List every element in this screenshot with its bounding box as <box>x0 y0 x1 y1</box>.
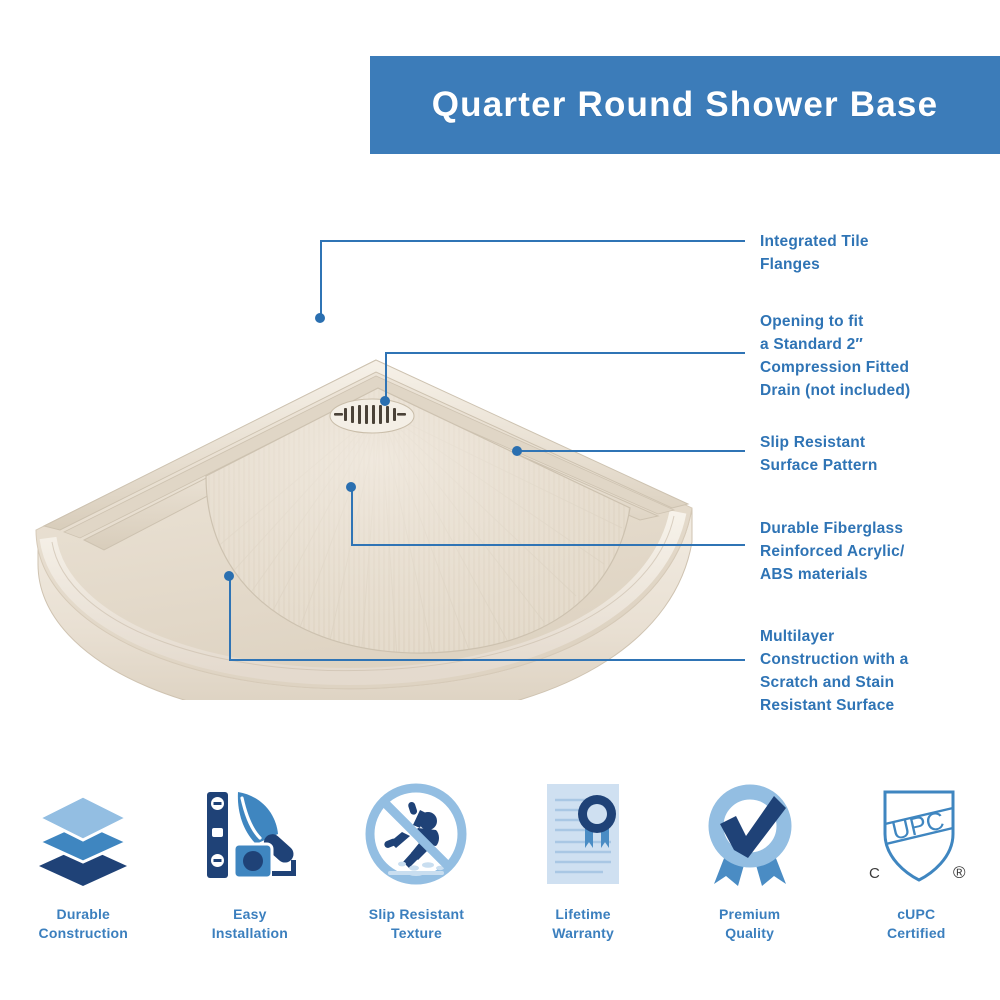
leader-multilayer-horizontal <box>229 659 745 661</box>
leader-dot-fiberglass <box>346 482 356 492</box>
shield-label: UPC <box>889 807 947 846</box>
leader-fiberglass-vertical <box>351 487 353 546</box>
leader-flanges-horizontal <box>320 240 745 242</box>
leader-multilayer-vertical <box>229 576 231 661</box>
callout-drain-opening: Opening to fit a Standard 2″ Compression… <box>760 311 910 403</box>
tape-measure-hook <box>291 860 296 876</box>
callout-integrated-tile-flanges: Integrated Tile Flanges <box>760 231 869 277</box>
page-title: Quarter Round Shower Base <box>432 85 938 125</box>
level-vial-mid <box>212 828 223 837</box>
product-illustration <box>8 280 728 700</box>
leader-fiberglass-horizontal <box>351 544 745 546</box>
shield-prefix-mark: C <box>869 865 880 882</box>
tape-measure-reel <box>243 851 263 871</box>
leader-dot-drain <box>380 396 390 406</box>
leader-drain-vertical <box>385 352 387 400</box>
level-trowel-tape-icon <box>198 775 302 893</box>
feature-durable-construction: Durable Construction <box>0 775 167 943</box>
certificate-rosette-icon <box>531 775 635 893</box>
wet-floor-splash <box>388 862 444 875</box>
feature-label-premium-quality: Premium Quality <box>719 905 780 943</box>
feature-label-lifetime-warranty: Lifetime Warranty <box>552 905 614 943</box>
title-banner: Quarter Round Shower Base <box>370 56 1000 154</box>
callout-slip-resistant-surface: Slip Resistant Surface Pattern <box>760 432 878 478</box>
feature-slip-resistant-texture: Slip Resistant Texture <box>333 775 500 943</box>
no-slip-prohibition-icon <box>362 775 470 893</box>
stacked-layers-icon <box>31 775 135 893</box>
leader-dot-multilayer <box>224 571 234 581</box>
feature-icon-row: Durable Construction <box>0 775 1000 975</box>
upc-shield-icon: UPC C ® <box>857 775 975 893</box>
leader-drain-horizontal <box>385 352 745 354</box>
leader-dot-slip <box>512 446 522 456</box>
feature-label-easy-installation: Easy Installation <box>212 905 288 943</box>
callout-fiberglass-materials: Durable Fiberglass Reinforced Acrylic/ A… <box>760 518 905 587</box>
shower-base-drawing <box>8 280 728 700</box>
feature-label-durable-construction: Durable Construction <box>39 905 129 943</box>
feature-label-cupc-certified: cUPC Certified <box>887 905 946 943</box>
checkmark-ribbon-icon <box>698 775 802 893</box>
level-vial-bottom-bubble <box>213 859 221 862</box>
feature-premium-quality: Premium Quality <box>666 775 833 943</box>
leader-slip-horizontal <box>517 450 745 452</box>
shield-registered-mark: ® <box>953 863 966 882</box>
callout-multilayer-construction: Multilayer Construction with a Scratch a… <box>760 626 908 718</box>
leader-flanges-vertical <box>320 240 322 318</box>
rosette-inner <box>587 804 607 824</box>
layer-top <box>39 796 127 840</box>
level-vial-top-bubble <box>213 802 221 805</box>
leader-dot-flanges <box>315 313 325 323</box>
feature-easy-installation: Easy Installation <box>167 775 334 943</box>
drain-assembly <box>330 399 414 433</box>
infographic-canvas: Quarter Round Shower Base <box>0 0 1000 1000</box>
feature-label-slip-resistant-texture: Slip Resistant Texture <box>369 905 464 943</box>
feature-lifetime-warranty: Lifetime Warranty <box>500 775 667 943</box>
feature-cupc-certified: UPC C ® cUPC Certified <box>833 775 1000 943</box>
